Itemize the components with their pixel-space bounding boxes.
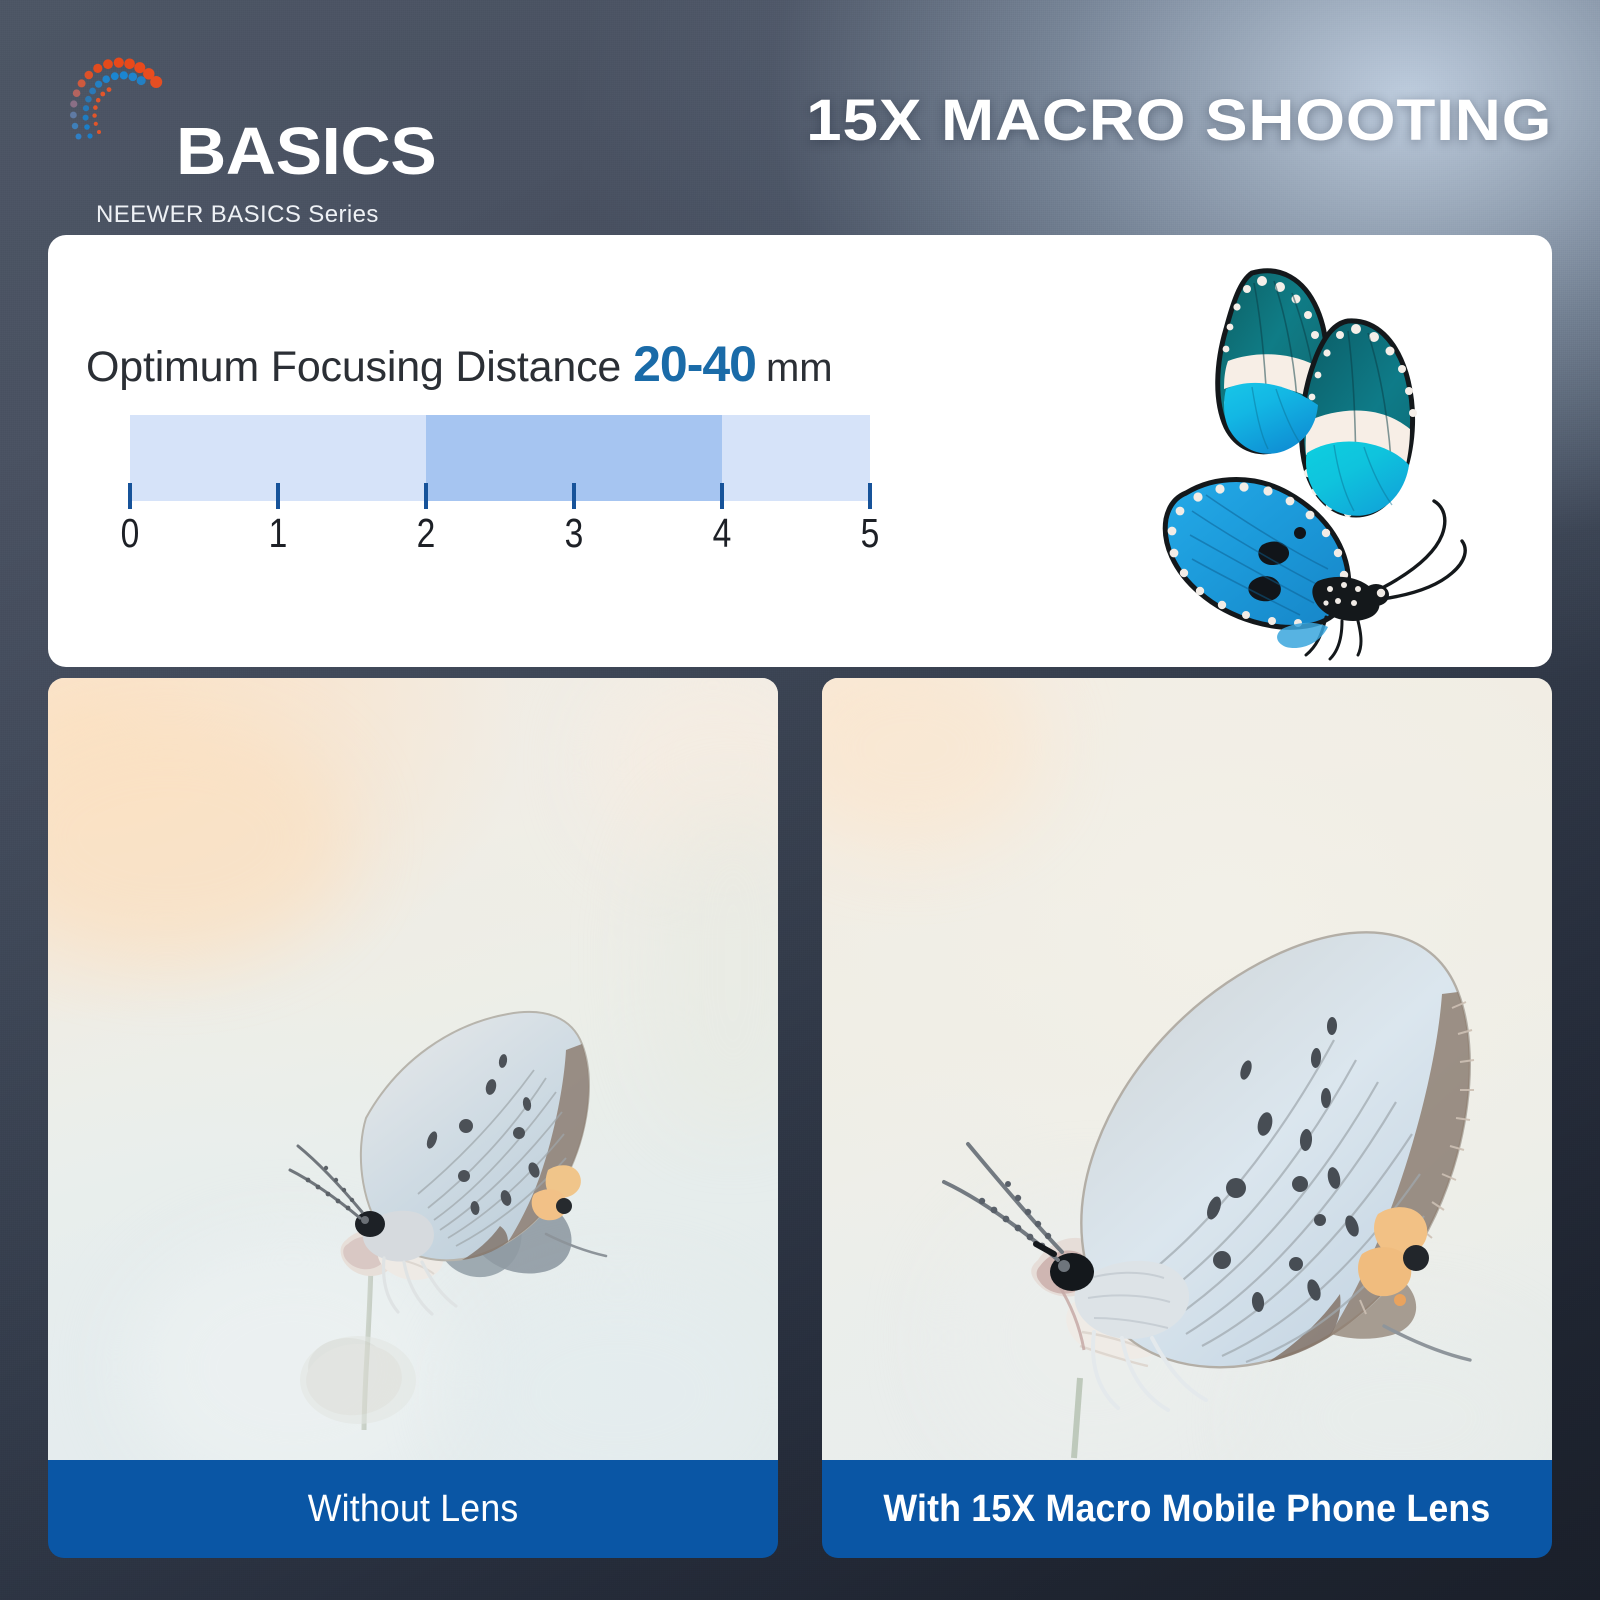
focusing-distance-value: 20-40 xyxy=(633,336,756,392)
scale-tick xyxy=(720,483,724,509)
focusing-distance-scale: 012345 xyxy=(130,415,870,595)
neewer-dot-arc-logo-icon xyxy=(54,40,182,168)
blue-butterfly-illustration-icon xyxy=(1076,243,1506,663)
scale-tick xyxy=(276,483,280,509)
bokeh-blob xyxy=(942,1198,1242,1460)
scale-tick xyxy=(868,483,872,509)
comparison-panel-with-lens: With 15X Macro Mobile Phone Lens xyxy=(822,678,1552,1558)
brand-tagline: NEEWER BASICS Series xyxy=(96,201,379,229)
scale-tick-label: 2 xyxy=(417,513,436,554)
spec-card: Optimum Focusing Distance20-40mm 012345 xyxy=(48,235,1552,667)
bokeh-blob xyxy=(648,798,778,1128)
focusing-distance-unit: mm xyxy=(766,346,833,390)
scale-tick-label: 5 xyxy=(861,513,880,554)
comparison-panel-without-lens: Without Lens xyxy=(48,678,778,1558)
scale-tick-label: 4 xyxy=(713,513,732,554)
butterfly-on-stem-photo-wide xyxy=(48,678,778,1460)
caption-bar-without-lens: Without Lens xyxy=(48,1460,778,1558)
bokeh-blob xyxy=(593,678,778,868)
page-title: 15X MACRO SHOOTING xyxy=(806,92,1552,150)
bokeh-blob xyxy=(48,718,348,958)
scale-tick-label: 1 xyxy=(269,513,288,554)
scale-tick xyxy=(572,483,576,509)
scale-tick xyxy=(128,483,132,509)
scale-tick-label: 3 xyxy=(565,513,584,554)
bokeh-blob xyxy=(1252,1318,1552,1460)
bokeh-blob xyxy=(128,1238,458,1460)
caption-bar-with-lens: With 15X Macro Mobile Phone Lens xyxy=(822,1460,1552,1558)
poster-header: BASICS NEEWER BASICS Series 15X MACRO SH… xyxy=(0,0,1600,235)
brand-name: BASICS xyxy=(176,118,436,185)
caption-label: With 15X Macro Mobile Phone Lens xyxy=(883,1490,1490,1528)
scale-tick xyxy=(424,483,428,509)
butterfly-on-stem-photo-macro xyxy=(822,678,1552,1460)
bokeh-blob xyxy=(458,1278,778,1460)
poster-canvas: BASICS NEEWER BASICS Series 15X MACRO SH… xyxy=(0,0,1600,1600)
spec-card-left-column: Optimum Focusing Distance20-40mm 012345 xyxy=(86,235,906,667)
focusing-distance-line: Optimum Focusing Distance20-40mm xyxy=(86,339,833,389)
bokeh-blob xyxy=(822,678,1042,848)
caption-label: Without Lens xyxy=(308,1490,519,1528)
scale-label-group: 012345 xyxy=(130,513,870,563)
butterfly-subject-wide xyxy=(48,678,778,1460)
focusing-distance-label: Optimum Focusing Distance xyxy=(86,343,621,391)
butterfly-subject-macro xyxy=(822,678,1552,1460)
scale-tick-label: 0 xyxy=(121,513,140,554)
scale-tick-group xyxy=(130,483,870,509)
brand-block: BASICS NEEWER BASICS Series xyxy=(48,38,568,198)
